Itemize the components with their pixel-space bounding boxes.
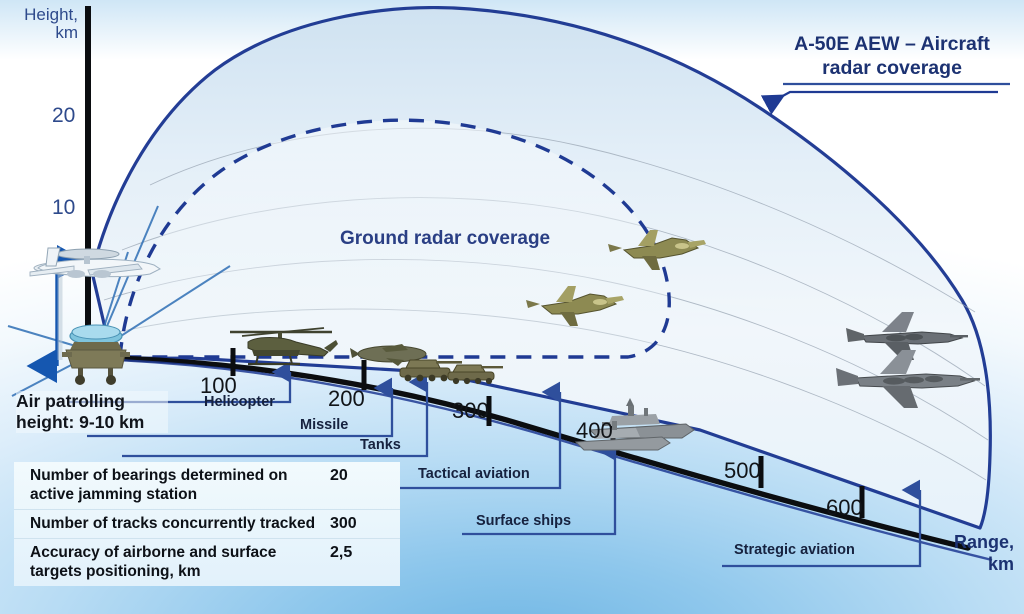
height-axis-title-line2: km	[16, 24, 78, 42]
range-axis-title-line2: km	[918, 554, 1014, 576]
callout-strategic-aviation: Strategic aviation	[734, 542, 855, 558]
spec-label: Number of tracks concurrently tracked	[30, 514, 330, 533]
aircraft-coverage-title: A-50E AEW – Aircraft radar coverage	[766, 32, 1018, 81]
range-tick-500: 500	[724, 458, 761, 484]
range-axis-title-line1: Range,	[918, 532, 1014, 554]
spec-value: 300	[330, 514, 392, 534]
air-patrolling-line2: height: 9-10 km	[16, 412, 168, 433]
ground-radar-vehicle-icon	[62, 325, 130, 385]
aircraft-coverage-title-line2: radar coverage	[766, 56, 1018, 80]
height-tick-20: 20	[52, 104, 75, 128]
table-row: Number of bearings determined on active …	[14, 462, 400, 509]
spec-value: 2,5	[330, 543, 392, 563]
height-axis-title: Height, km	[16, 6, 78, 42]
radar-coverage-diagram: Height, km 20 10 A-50E AEW – Aircraft ra…	[0, 0, 1024, 614]
callout-tactical-aviation: Tactical aviation	[418, 466, 530, 482]
aircraft-coverage-title-line1: A-50E AEW – Aircraft	[766, 32, 1018, 56]
range-tick-300: 300	[452, 398, 489, 424]
patrolling-height-arrow	[57, 262, 60, 366]
spec-table: Number of bearings determined on active …	[14, 462, 400, 586]
spec-label: Number of bearings determined on active …	[30, 466, 330, 505]
range-tick-400: 400	[576, 418, 613, 444]
callout-tanks: Tanks	[360, 437, 401, 453]
callout-missile: Missile	[300, 417, 348, 433]
range-tick-200: 200	[328, 386, 365, 412]
table-row: Accuracy of airborne and surface targets…	[14, 538, 400, 586]
air-patrolling-height-label: Air patrolling height: 9-10 km	[16, 391, 168, 433]
table-row: Number of tracks concurrently tracked 30…	[14, 509, 400, 538]
range-tick-600: 600	[826, 495, 863, 521]
callout-helicopter: Helicopter	[204, 394, 275, 410]
spec-value: 20	[330, 466, 392, 486]
spec-label: Accuracy of airborne and surface targets…	[30, 543, 330, 582]
callout-surface-ships: Surface ships	[476, 513, 571, 529]
air-patrolling-line1: Air patrolling	[16, 391, 168, 412]
height-axis-title-line1: Height,	[16, 6, 78, 24]
height-tick-10: 10	[52, 196, 75, 220]
ground-coverage-title: Ground radar coverage	[340, 228, 550, 250]
range-axis-title: Range, km	[918, 532, 1014, 575]
